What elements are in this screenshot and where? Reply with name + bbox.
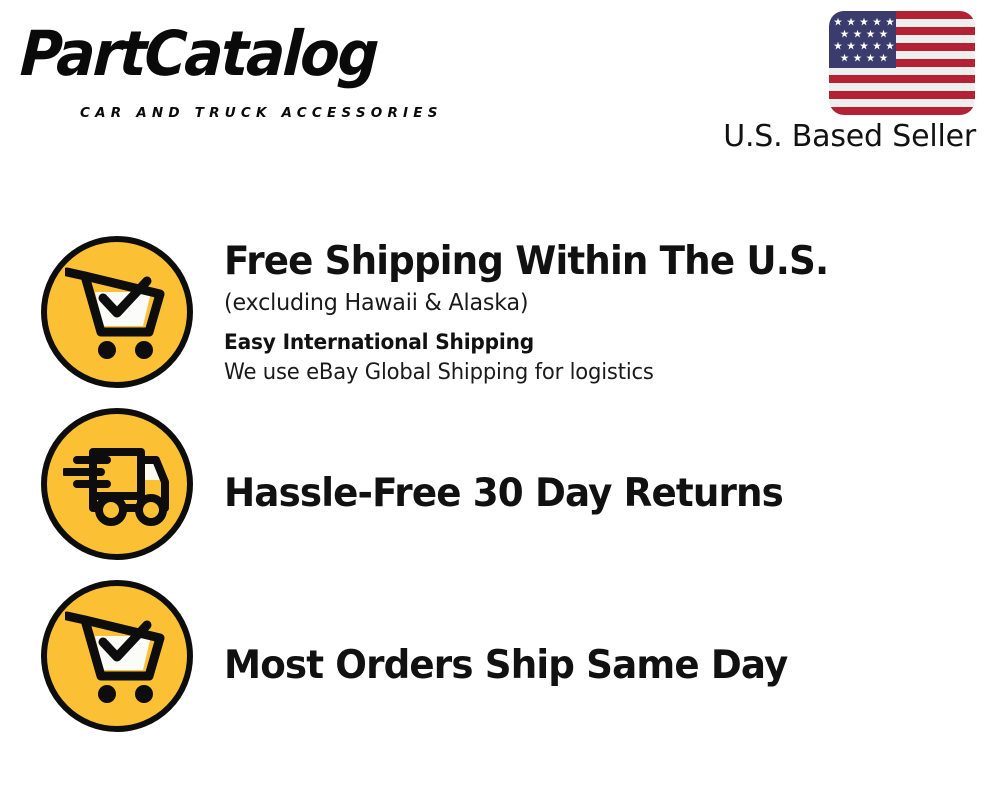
feature-heading: Free Shipping Within The U.S. xyxy=(224,238,965,286)
banner-header: PartCatalog CAR AND TRUCK ACCESSORIES xyxy=(0,0,1000,170)
us-flag-icon xyxy=(829,11,975,115)
feature-row: Hassle-Free 30 Day Returns xyxy=(0,408,1000,580)
feature-note: (excluding Hawaii & Alaska) xyxy=(224,286,973,320)
logo-wordmark: PartCatalog xyxy=(19,22,459,86)
feature-heading: Most Orders Ship Same Day xyxy=(224,642,965,690)
feature-row: Free Shipping Within The U.S. (excluding… xyxy=(0,236,1000,408)
feature-text-block: Free Shipping Within The U.S. (excluding… xyxy=(193,236,1000,389)
us-based-seller-label: U.S. Based Seller xyxy=(723,118,976,156)
logo-tagline: CAR AND TRUCK ACCESSORIES xyxy=(80,106,443,121)
feature-text-block: Hassle-Free 30 Day Returns xyxy=(193,470,1000,518)
feature-heading: Hassle-Free 30 Day Returns xyxy=(224,470,965,518)
partcatalog-logo: PartCatalog CAR AND TRUCK ACCESSORIES xyxy=(22,22,492,117)
shopping-cart-check-icon xyxy=(41,580,193,732)
shopping-cart-check-icon xyxy=(41,236,193,388)
promo-banner: PartCatalog CAR AND TRUCK ACCESSORIES xyxy=(0,0,1000,800)
feature-subtext: We use eBay Global Shipping for logistic… xyxy=(224,357,969,389)
feature-subheading: Easy International Shipping xyxy=(224,327,969,357)
delivery-truck-icon xyxy=(41,408,193,560)
us-based-seller-badge: U.S. Based Seller xyxy=(698,8,988,158)
feature-row: Most Orders Ship Same Day xyxy=(0,580,1000,752)
feature-text-block: Most Orders Ship Same Day xyxy=(193,642,1000,690)
